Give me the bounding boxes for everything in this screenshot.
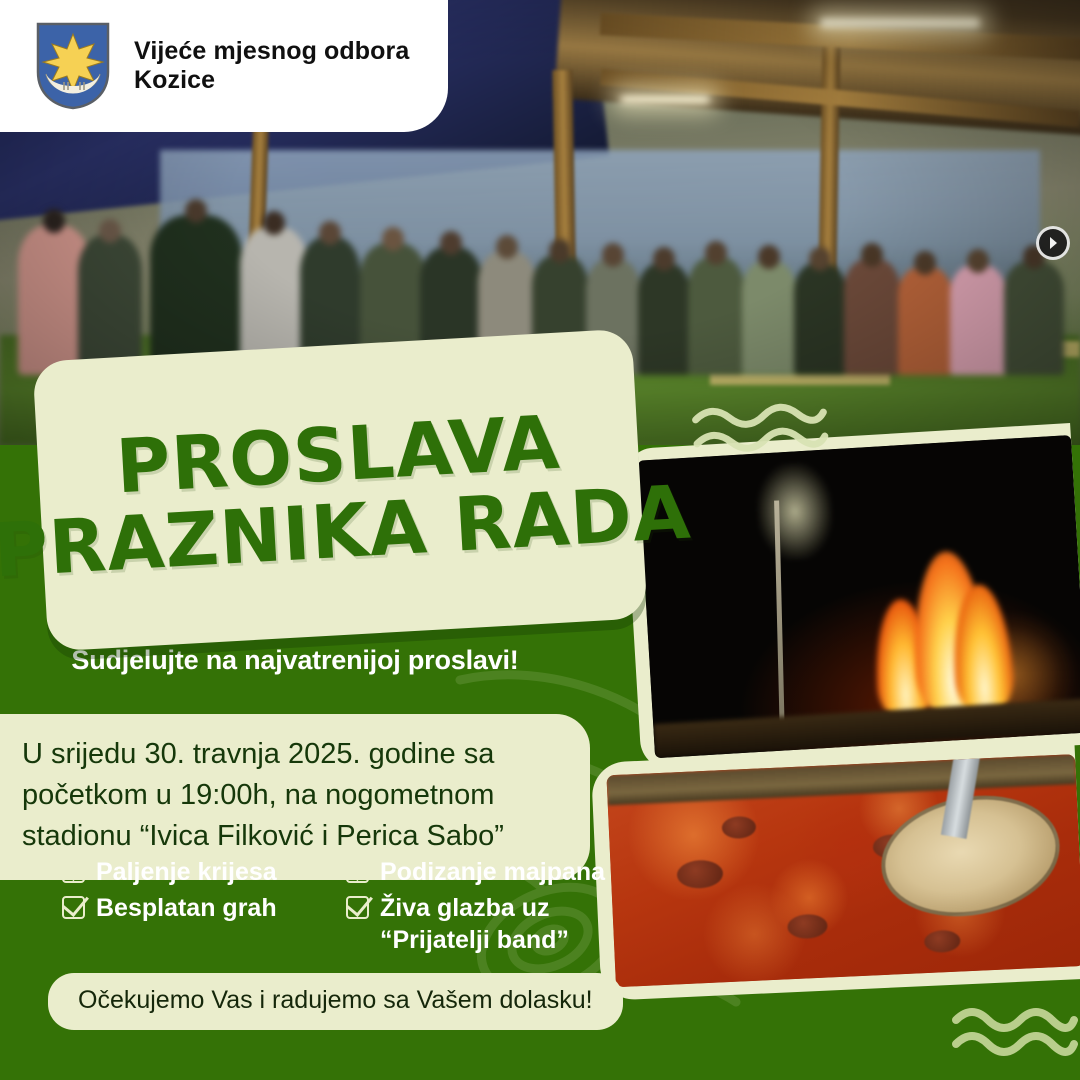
- list-item: Živa glazba uz “Prijatelji band”: [346, 892, 646, 956]
- event-features-checklist: Paljenje krijesa Podizanje majpana Bespl…: [62, 856, 632, 956]
- list-item-label: Besplatan grah: [96, 892, 277, 924]
- fire-tree-crown: [755, 461, 835, 561]
- event-poster: Vijeće mjesnog odbora Kozice PROSLAVA PR…: [0, 0, 1080, 1080]
- coat-of-arms-shield-icon: [34, 20, 112, 112]
- list-item: Paljenje krijesa: [62, 856, 334, 888]
- chevron-right-icon: [1045, 235, 1061, 251]
- list-item: Besplatan grah: [62, 892, 334, 956]
- event-details-text: U srijedu 30. travnja 2025. godine sa po…: [22, 734, 564, 858]
- organization-header: Vijeće mjesnog odbora Kozice: [0, 0, 448, 132]
- event-details-card: U srijedu 30. travnja 2025. godine sa po…: [0, 714, 590, 880]
- bonfire-photo: [623, 423, 1080, 771]
- organization-name: Vijeće mjesnog odbora Kozice: [134, 37, 409, 96]
- bean-stew-photo: [591, 741, 1080, 1001]
- list-item-label: Podizanje majpana: [380, 856, 605, 888]
- list-item-label: Živa glazba uz “Prijatelji band”: [380, 892, 569, 956]
- list-item: Podizanje majpana: [346, 856, 646, 888]
- closing-message-banner: Očekujemo Vas i radujemo sa Vašem dolask…: [48, 973, 623, 1030]
- check-box-icon: [62, 860, 85, 883]
- check-box-icon: [62, 896, 85, 919]
- poster-subtitle: Sudjelujte na najvatrenijoj proslavi!: [0, 645, 590, 676]
- check-box-icon: [346, 860, 369, 883]
- carousel-next-button[interactable]: [1036, 226, 1070, 260]
- list-item-label: Paljenje krijesa: [96, 856, 277, 888]
- check-box-icon: [346, 896, 369, 919]
- wavy-lines-decoration-bottom-icon: [950, 1000, 1080, 1058]
- title-line-2: PRAZNIKA RADA: [0, 476, 693, 590]
- poster-title-card: PROSLAVA PRAZNIKA RADA: [32, 328, 647, 651]
